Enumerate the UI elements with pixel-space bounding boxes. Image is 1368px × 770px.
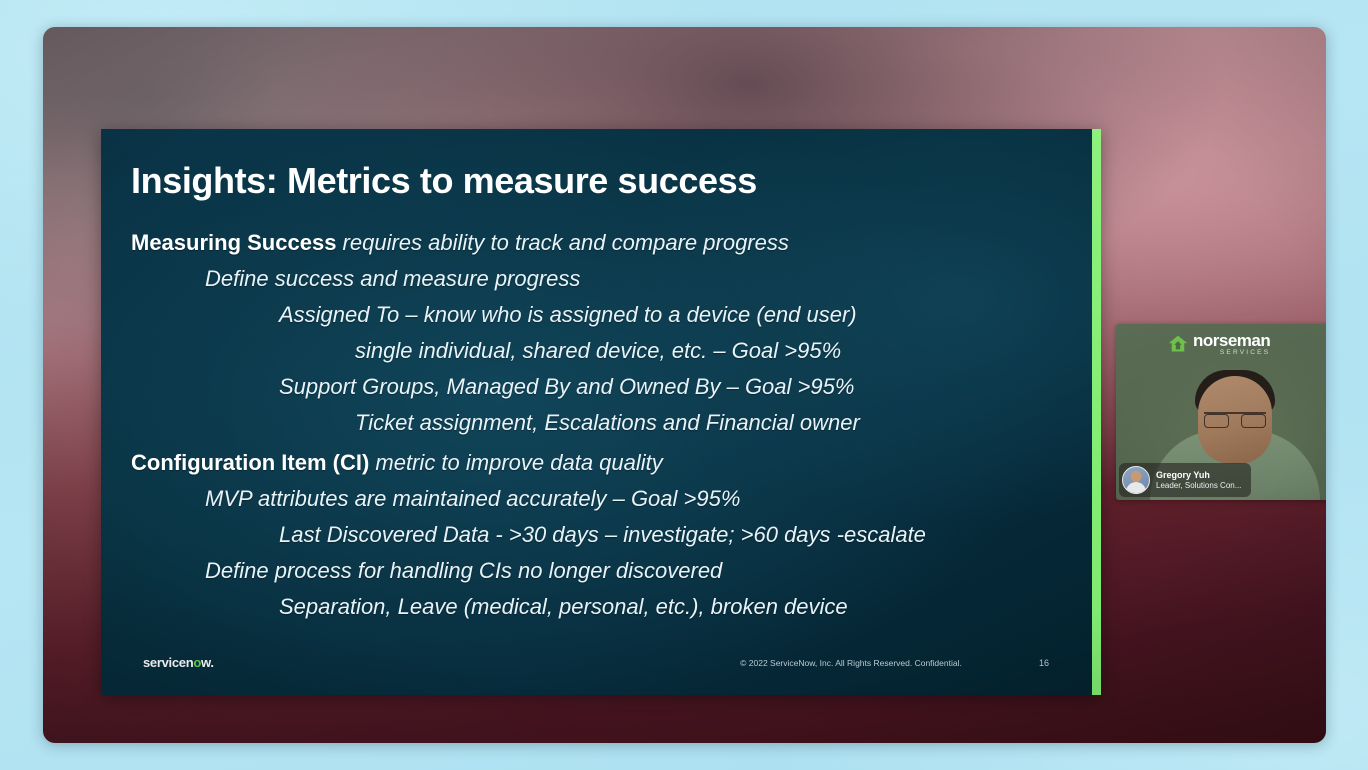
slide-line: Define process for handling CIs no longe… xyxy=(101,553,1071,589)
glasses-icon xyxy=(1204,412,1266,428)
slide-line-text: MVP attributes are maintained accurately… xyxy=(205,486,740,511)
slide-line-text: Ticket assignment, Escalations and Finan… xyxy=(355,410,860,435)
slide-line: Define success and measure progress xyxy=(101,261,1071,297)
slide-line-text: Define success and measure progress xyxy=(205,266,580,291)
slide-line: Assigned To – know who is assigned to a … xyxy=(101,297,1071,333)
presentation-slide: Insights: Metrics to measure success Mea… xyxy=(101,129,1101,695)
screen-share-window: Insights: Metrics to measure success Mea… xyxy=(43,27,1326,743)
participant-video-tile[interactable]: norseman SERVICES Gregory Yuh Leader, So… xyxy=(1116,324,1326,500)
slide-line-text: Last Discovered Data - >30 days – invest… xyxy=(279,522,926,547)
slide-line: Measuring Success requires ability to tr… xyxy=(101,225,1071,261)
slide-page-number: 16 xyxy=(1039,658,1049,668)
slide-line-lead: Configuration Item (CI) xyxy=(131,450,369,475)
slide-line: Separation, Leave (medical, personal, et… xyxy=(101,589,1071,625)
norseman-house-icon xyxy=(1168,334,1188,354)
participant-role: Leader, Solutions Con... xyxy=(1156,481,1241,490)
slide-title: Insights: Metrics to measure success xyxy=(131,160,757,202)
slide-line-text: single individual, shared device, etc. –… xyxy=(355,338,841,363)
participant-name-badge: Gregory Yuh Leader, Solutions Con... xyxy=(1119,463,1251,497)
slide-line: Last Discovered Data - >30 days – invest… xyxy=(101,517,1071,553)
participant-name: Gregory Yuh xyxy=(1156,470,1241,481)
slide-line-text: Support Groups, Managed By and Owned By … xyxy=(279,374,854,399)
norseman-wordmark: norseman SERVICES xyxy=(1193,332,1270,357)
servicenow-logo: servicenow. xyxy=(143,655,214,670)
norseman-logo: norseman SERVICES xyxy=(1168,332,1270,357)
slide-line: Configuration Item (CI) metric to improv… xyxy=(101,445,1071,481)
slide-line: Ticket assignment, Escalations and Finan… xyxy=(101,405,1071,441)
slide-line: MVP attributes are maintained accurately… xyxy=(101,481,1071,517)
slide-line: single individual, shared device, etc. –… xyxy=(101,333,1071,369)
participant-info: Gregory Yuh Leader, Solutions Con... xyxy=(1156,470,1241,490)
avatar xyxy=(1122,466,1150,494)
slide-line-text: Define process for handling CIs no longe… xyxy=(205,558,722,583)
slide-line-text: Assigned To – know who is assigned to a … xyxy=(279,302,857,327)
logo-text-prefix: servicen xyxy=(143,655,193,670)
logo-text-accent: o xyxy=(193,655,201,670)
copyright-notice: © 2022 ServiceNow, Inc. All Rights Reser… xyxy=(701,658,1001,668)
slide-line: Support Groups, Managed By and Owned By … xyxy=(101,369,1071,405)
brand-name: norseman xyxy=(1193,332,1270,349)
slide-accent-bar xyxy=(1092,129,1101,695)
meeting-stage: Insights: Metrics to measure success Mea… xyxy=(0,0,1368,770)
slide-line-text: metric to improve data quality xyxy=(369,450,662,475)
slide-line-text: Separation, Leave (medical, personal, et… xyxy=(279,594,848,619)
slide-line-lead: Measuring Success xyxy=(131,230,336,255)
logo-text-suffix: w. xyxy=(201,655,214,670)
slide-line-text: requires ability to track and compare pr… xyxy=(336,230,788,255)
slide-body: Measuring Success requires ability to tr… xyxy=(101,225,1071,625)
brand-subtitle: SERVICES xyxy=(1193,350,1270,357)
slide-footer: servicenow. © 2022 ServiceNow, Inc. All … xyxy=(101,653,1101,675)
